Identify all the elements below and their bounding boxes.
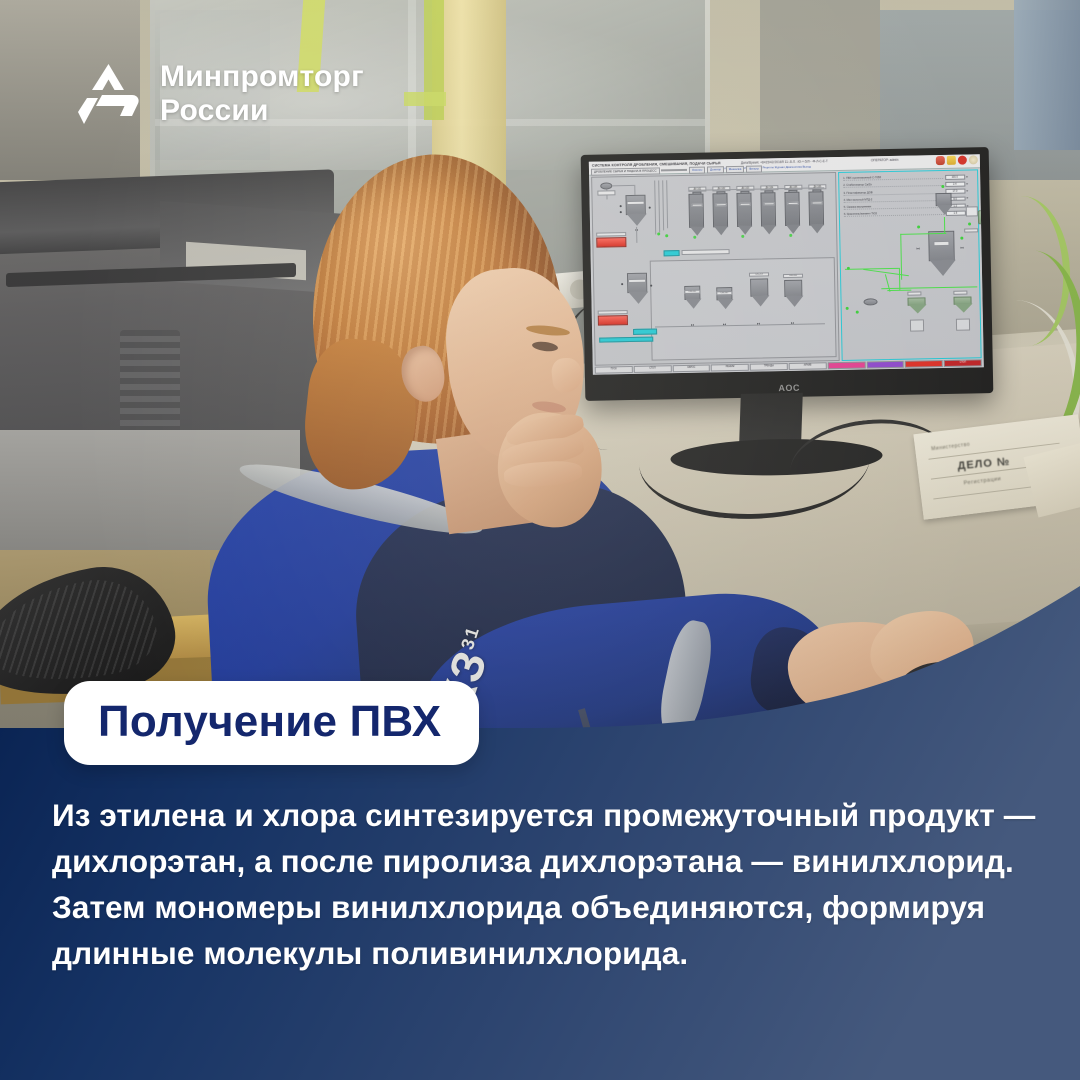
brand-name-line2: России <box>160 94 364 128</box>
body-paragraph: Из этилена и хлора синтезируется промежу… <box>52 793 1042 977</box>
brand-logo: Минпромторг России <box>78 60 364 127</box>
minpromtorg-triangle-logo-icon <box>78 62 144 126</box>
body-copy: Из этилена и хлора синтезируется промежу… <box>52 793 1042 977</box>
title-card: Получение ПВХ <box>64 681 479 765</box>
brand-name: Минпромторг России <box>160 60 364 127</box>
brand-name-line1: Минпромторг <box>160 60 364 94</box>
social-card: СИСТЕМА КОНТРОЛЯ ДРОБЛЕНИЯ, СМЕШИВАНИЯ, … <box>0 0 1080 1080</box>
page-title: Получение ПВХ <box>98 700 441 744</box>
overlay-content: Минпромторг России Получение ПВХ Из этил… <box>0 0 1080 1080</box>
